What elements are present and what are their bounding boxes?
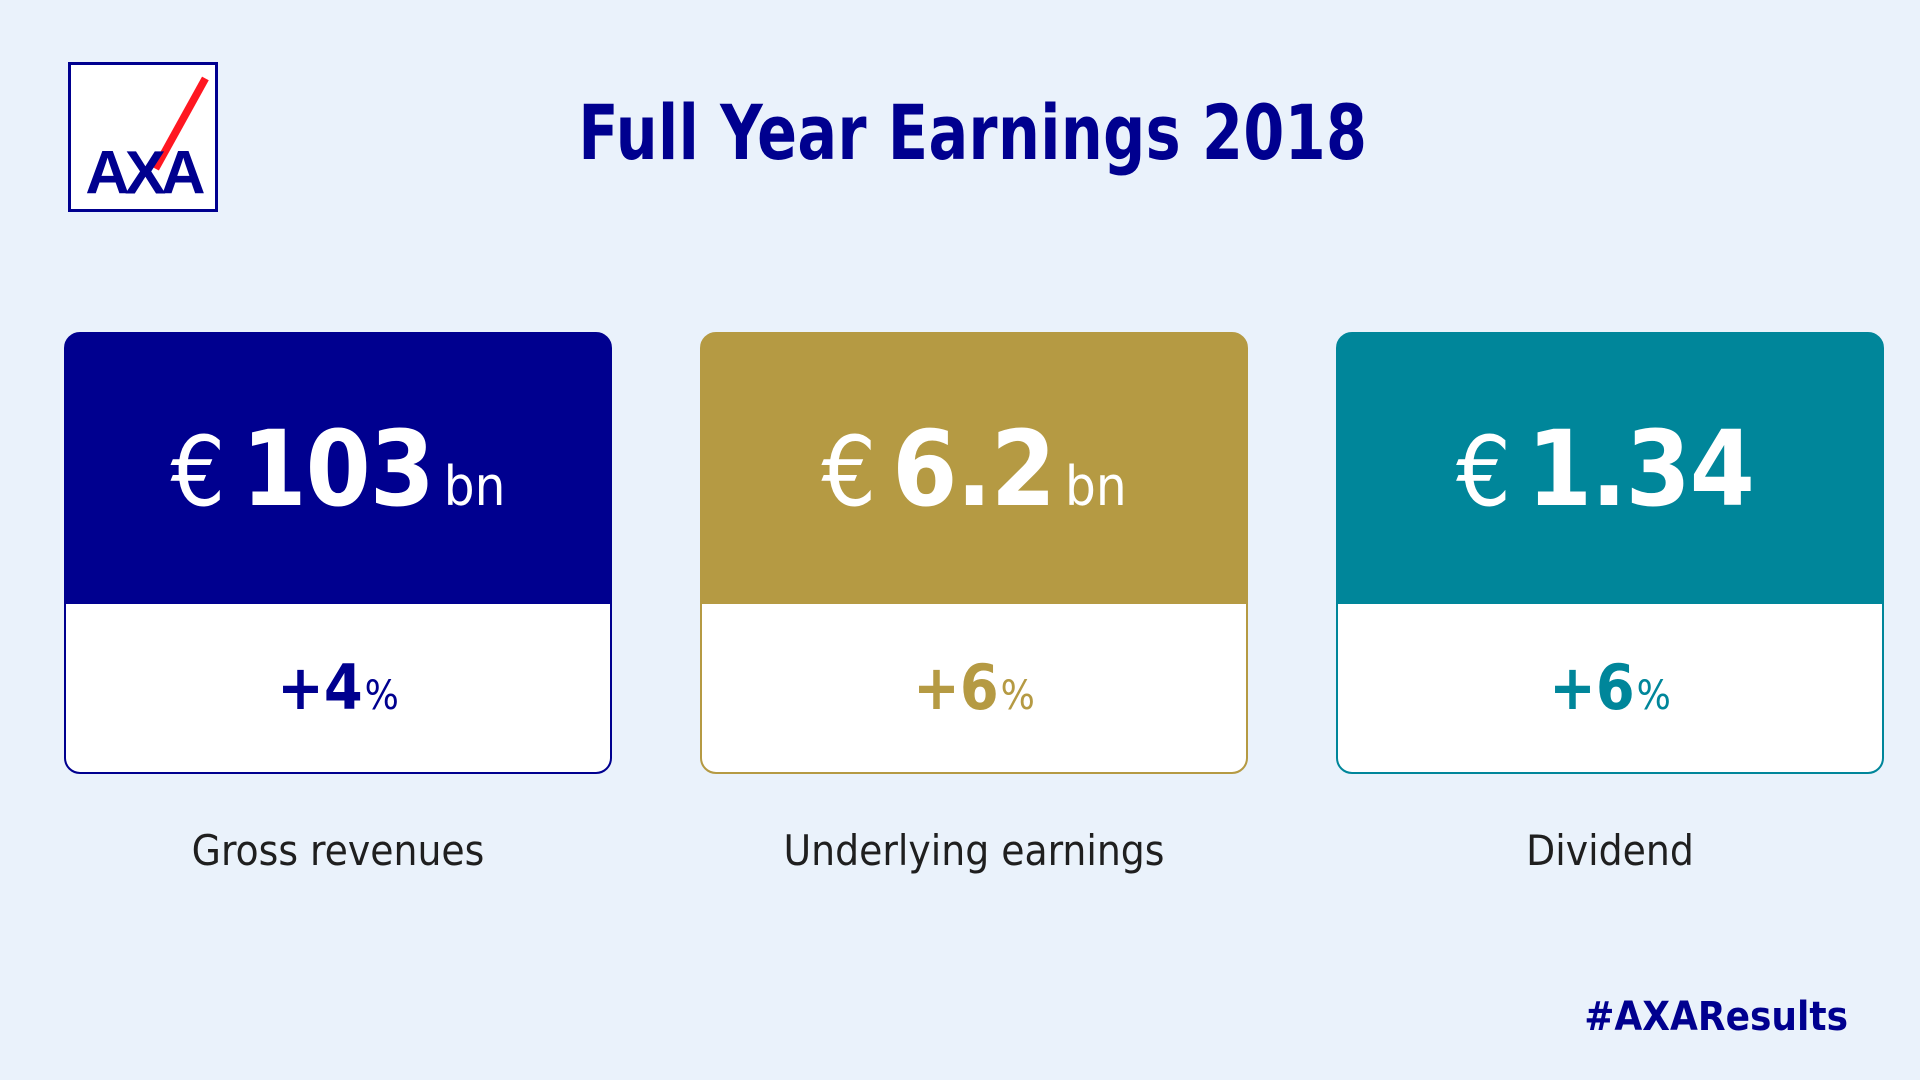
- change-percent-symbol: %: [1637, 676, 1671, 716]
- card-value: € 103 bn: [171, 417, 506, 521]
- change-percent-symbol: %: [365, 676, 399, 716]
- value-number: 103: [241, 417, 433, 521]
- header: AXA Full Year Earnings 2018: [0, 0, 1920, 230]
- card-caption: Dividend: [1526, 826, 1694, 875]
- card-value: € 1.34: [1456, 417, 1764, 521]
- hashtag-axaresults: #AXAResults: [1584, 994, 1848, 1040]
- card-change-area: +6 %: [702, 604, 1246, 772]
- card-change-area: +6 %: [1338, 604, 1882, 772]
- card-value-area: € 103 bn: [66, 334, 610, 604]
- currency-symbol: €: [821, 424, 876, 520]
- card-caption: Underlying earnings: [784, 826, 1165, 875]
- metric-cards-container: € 103 bn +4 % Gross revenues € 6.2 bn: [0, 332, 1920, 875]
- card-change: +6 %: [913, 657, 1035, 719]
- metric-card-underlying-earnings: € 6.2 bn +6 % Underlying earnings: [700, 332, 1248, 875]
- card-caption: Gross revenues: [192, 826, 485, 875]
- card-body: € 6.2 bn +6 %: [700, 332, 1248, 774]
- change-number: +6: [1549, 657, 1635, 719]
- value-number: 1.34: [1527, 417, 1754, 521]
- value-unit: bn: [444, 460, 506, 514]
- card-body: € 1.34 +6 %: [1336, 332, 1884, 774]
- change-number: +6: [913, 657, 999, 719]
- card-change: +4 %: [277, 657, 399, 719]
- metric-card-dividend: € 1.34 +6 % Dividend: [1336, 332, 1884, 875]
- currency-symbol: €: [171, 424, 226, 520]
- card-change: +6 %: [1549, 657, 1671, 719]
- value-number: 6.2: [892, 417, 1055, 521]
- card-value-area: € 6.2 bn: [702, 334, 1246, 604]
- card-value-area: € 1.34: [1338, 334, 1882, 604]
- value-unit: bn: [1065, 460, 1127, 514]
- card-change-area: +4 %: [66, 604, 610, 772]
- change-percent-symbol: %: [1001, 676, 1035, 716]
- currency-symbol: €: [1456, 424, 1511, 520]
- metric-card-gross-revenues: € 103 bn +4 % Gross revenues: [64, 332, 612, 875]
- card-value: € 6.2 bn: [821, 417, 1126, 521]
- change-number: +4: [277, 657, 363, 719]
- card-body: € 103 bn +4 %: [64, 332, 612, 774]
- page-title: Full Year Earnings 2018: [134, 88, 1785, 177]
